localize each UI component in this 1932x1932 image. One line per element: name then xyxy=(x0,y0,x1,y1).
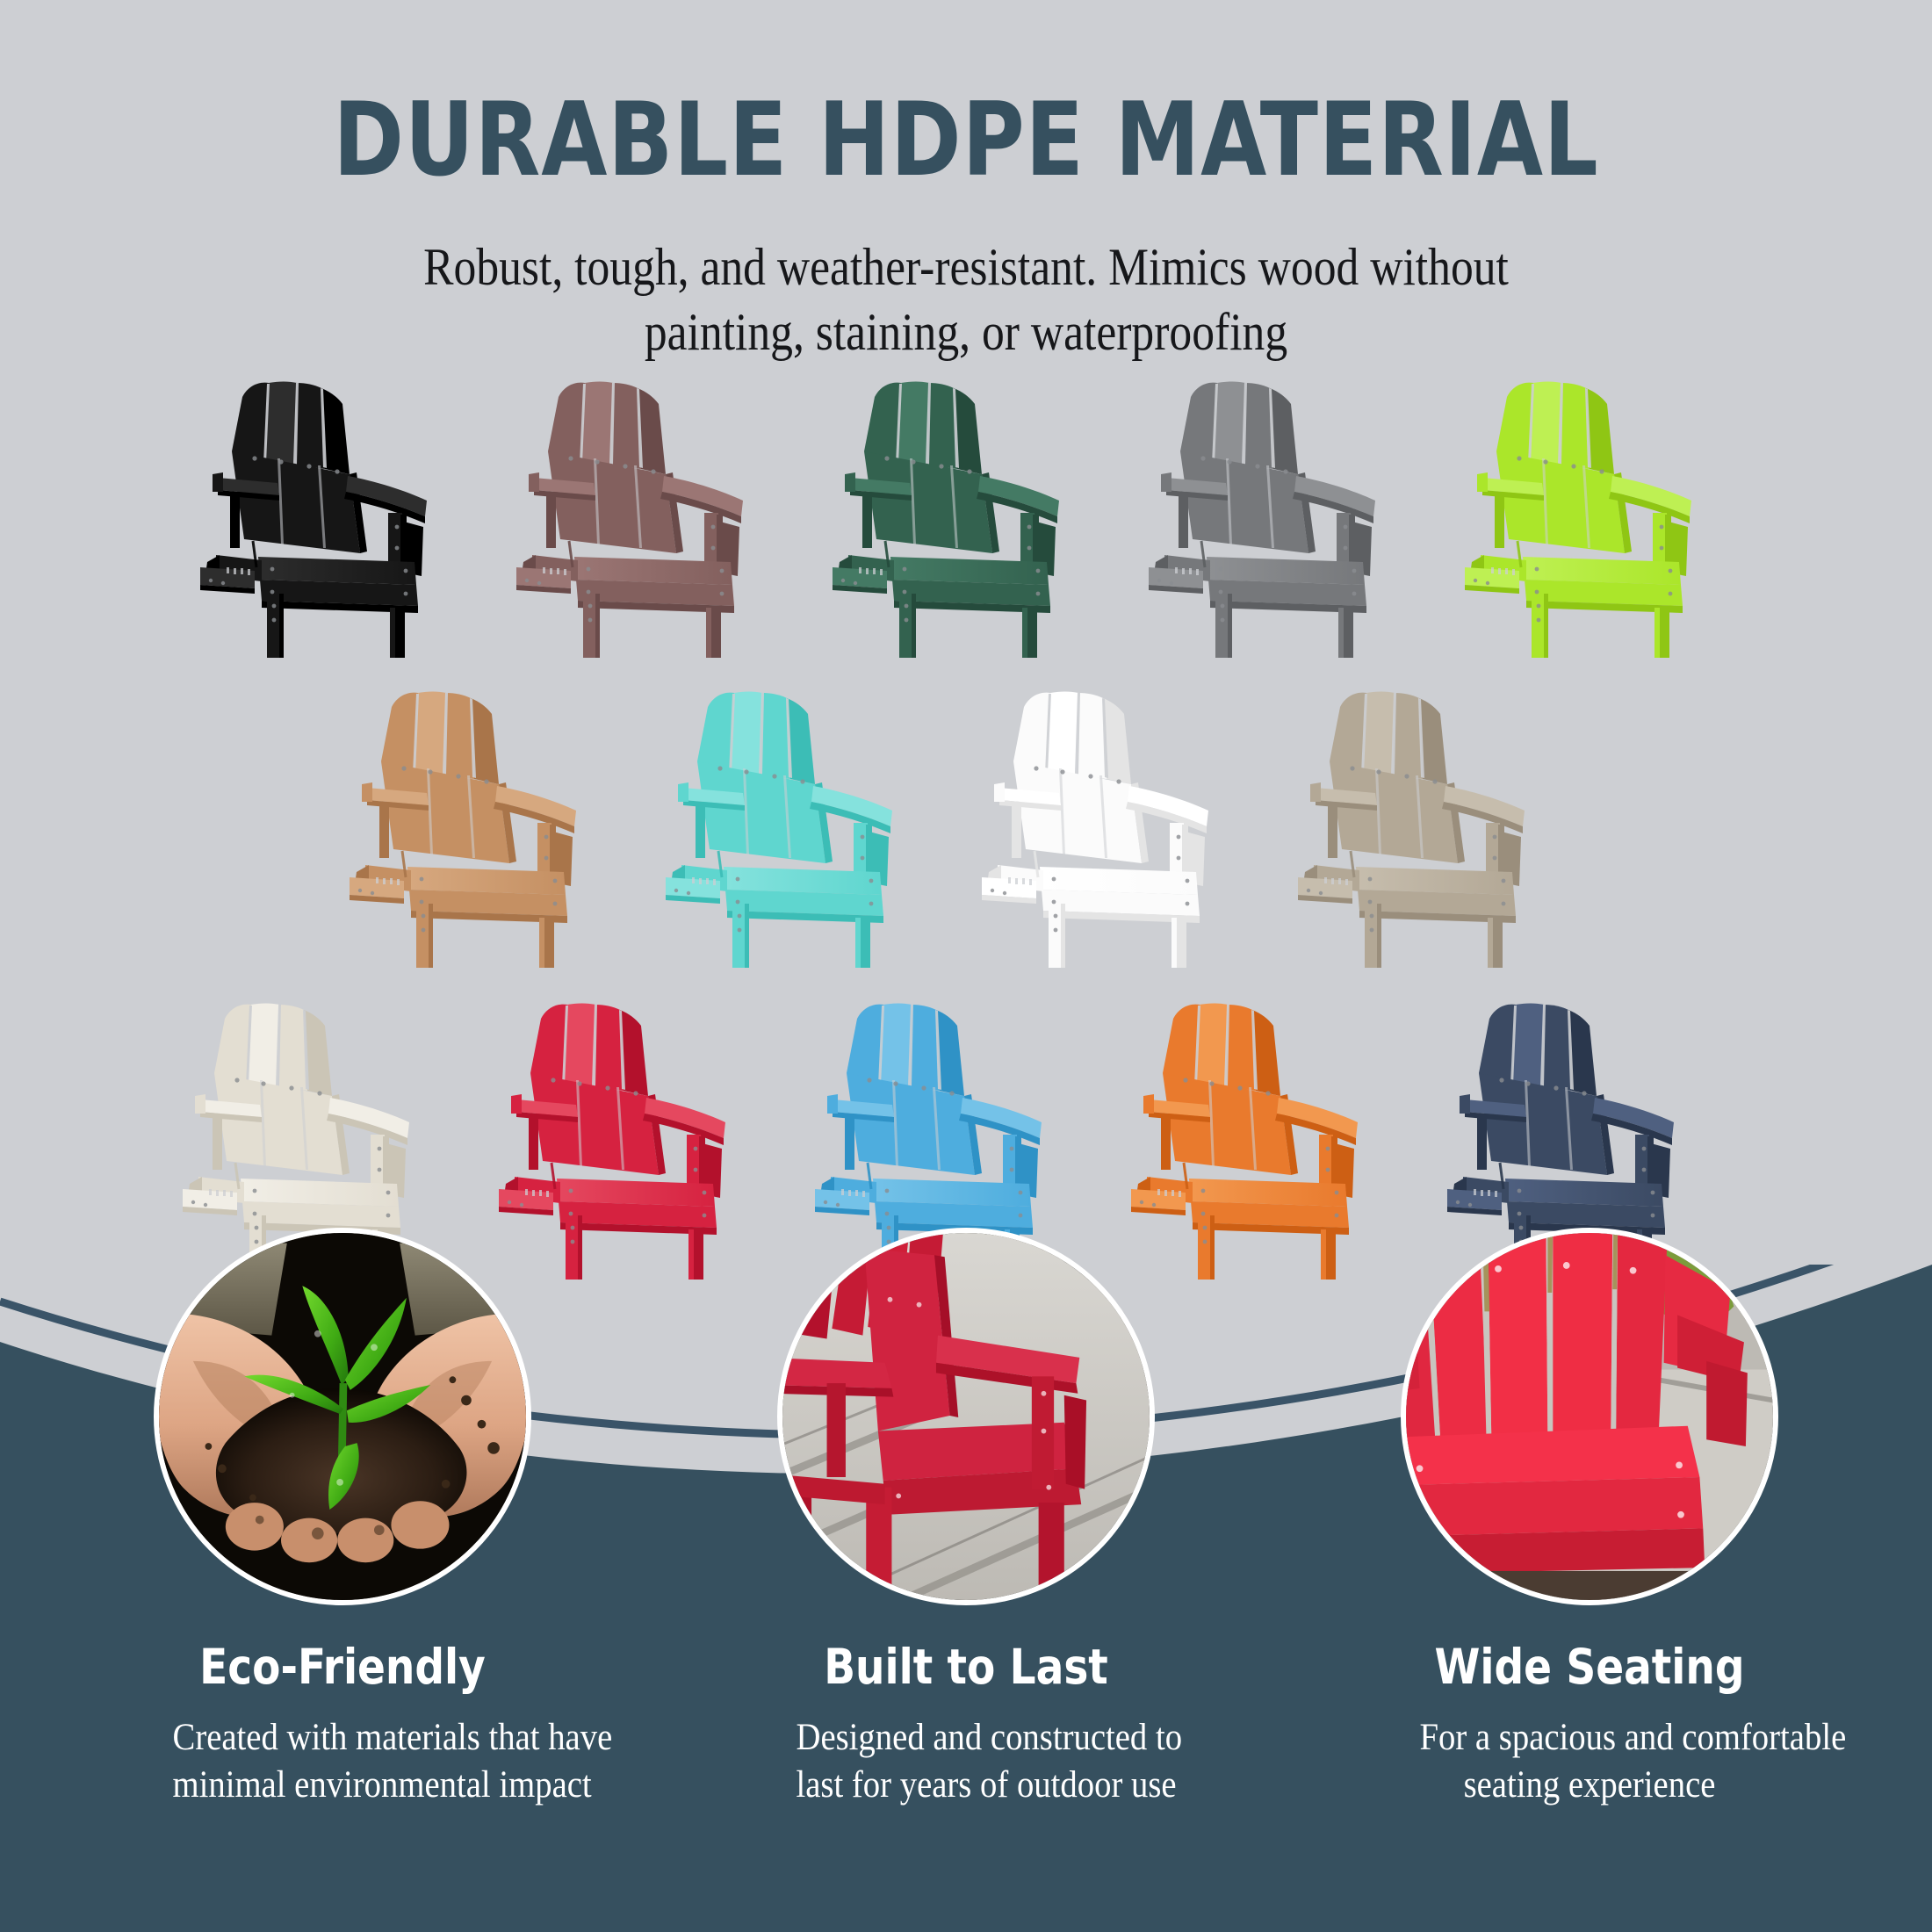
feature-desc-line-2: seating experience xyxy=(1420,1762,1760,1809)
feature-wide-seating: Wide Seating For a spacious and comforta… xyxy=(1401,1228,1778,1809)
feature-desc-line-1: For a spacious and comfortable xyxy=(1420,1714,1760,1762)
chair-swatch-brown[interactable] xyxy=(509,367,773,658)
adirondack-chair-illustration xyxy=(193,367,457,658)
chair-figure xyxy=(1458,367,1721,658)
feature-desc-line-2: last for years of outdoor use xyxy=(797,1762,1136,1809)
chair-figure xyxy=(193,367,457,658)
chair-figure xyxy=(1142,367,1405,658)
feature-description: Created with materials that have minimal… xyxy=(173,1714,513,1809)
chair-figure xyxy=(975,677,1238,968)
chair-figure xyxy=(509,367,773,658)
chair-swatch-white[interactable] xyxy=(975,677,1238,968)
chair-row xyxy=(0,367,1932,658)
feature-title: Wide Seating xyxy=(1410,1639,1770,1695)
chair-row xyxy=(0,677,1932,968)
chair-swatch-crimson-red[interactable] xyxy=(492,989,755,1280)
seedling-in-hands-photo xyxy=(154,1228,531,1605)
chair-swatch-gray[interactable] xyxy=(1142,367,1405,658)
feature-desc-line-1: Designed and constructed to xyxy=(797,1714,1136,1762)
subtitle-line-1: Robust, tough, and weather-resistant. Mi… xyxy=(135,235,1797,300)
adirondack-chair-illustration xyxy=(1142,367,1405,658)
header: DURABLE HDPE MATERIAL Robust, tough, and… xyxy=(0,0,1932,365)
adirondack-chair-illustration xyxy=(659,677,922,968)
chair-figure xyxy=(1124,989,1388,1280)
feature-built-to-last: Built to Last Designed and constructed t… xyxy=(777,1228,1155,1809)
feature-desc-line-2: minimal environmental impact xyxy=(173,1762,513,1809)
adirondack-chair-illustration xyxy=(509,367,773,658)
chair-figure xyxy=(825,367,1089,658)
chair-swatch-khaki[interactable] xyxy=(1291,677,1554,968)
feature-description: Designed and constructed to last for yea… xyxy=(797,1714,1136,1809)
adirondack-chair-illustration xyxy=(825,367,1089,658)
chair-swatch-orange[interactable] xyxy=(1124,989,1388,1280)
chair-color-grid xyxy=(0,367,1932,1280)
red-adirondack-chair-photo xyxy=(777,1228,1155,1605)
page-title: DURABLE HDPE MATERIAL xyxy=(68,90,1864,191)
subtitle-line-2: painting, staining, or waterproofing xyxy=(135,300,1797,365)
adirondack-chair-illustration xyxy=(1291,677,1554,968)
page-subtitle: Robust, tough, and weather-resistant. Mi… xyxy=(135,235,1797,365)
feature-eco-friendly: Eco-Friendly Created with materials that… xyxy=(154,1228,531,1809)
chair-swatch-lime-green[interactable] xyxy=(1458,367,1721,658)
feature-desc-line-1: Created with materials that have xyxy=(173,1714,513,1762)
feature-title: Eco-Friendly xyxy=(163,1639,523,1695)
chair-swatch-teak[interactable] xyxy=(342,677,606,968)
chair-figure xyxy=(342,677,606,968)
chair-swatch-turquoise[interactable] xyxy=(659,677,922,968)
feature-title: Built to Last xyxy=(787,1639,1146,1695)
red-chair-wide-seat-closeup-photo xyxy=(1401,1228,1778,1605)
chair-figure xyxy=(659,677,922,968)
adirondack-chair-illustration xyxy=(1458,367,1721,658)
adirondack-chair-illustration xyxy=(342,677,606,968)
chair-swatch-black[interactable] xyxy=(193,367,457,658)
chair-figure xyxy=(492,989,755,1280)
adirondack-chair-illustration xyxy=(975,677,1238,968)
feature-description: For a spacious and comfortable seating e… xyxy=(1420,1714,1760,1809)
adirondack-chair-illustration xyxy=(1124,989,1388,1280)
adirondack-chair-illustration xyxy=(492,989,755,1280)
chair-figure xyxy=(1291,677,1554,968)
chair-swatch-dark-green[interactable] xyxy=(825,367,1089,658)
